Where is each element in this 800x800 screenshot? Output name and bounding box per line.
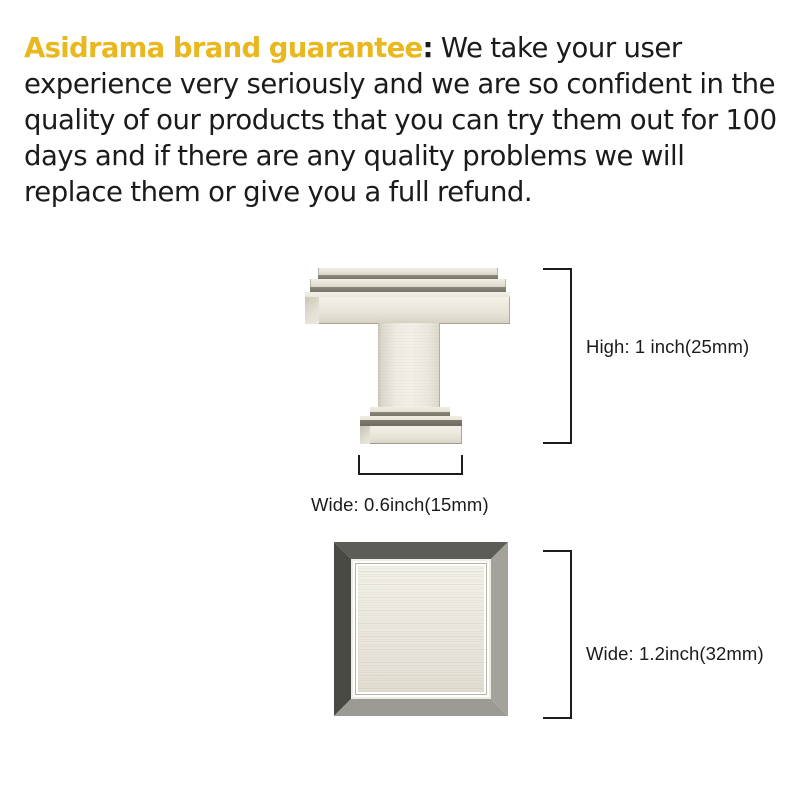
bracket-arm-top bbox=[543, 550, 572, 552]
face-width-dimension-label: Wide: 1.2inch(32mm) bbox=[586, 643, 764, 665]
bracket-arm-top bbox=[543, 268, 572, 270]
bracket-arm-bottom bbox=[543, 442, 572, 444]
bracket-stem bbox=[570, 550, 572, 719]
knob-stem-brushed-grain bbox=[378, 323, 440, 409]
knob-face-brushed-grain bbox=[358, 566, 484, 692]
stem-width-dimension-label: Wide: 0.6inch(15mm) bbox=[311, 494, 489, 516]
bracket-tick-left bbox=[358, 455, 360, 475]
height-dimension-bracket bbox=[543, 268, 572, 444]
knob-top-tier-2 bbox=[310, 279, 506, 287]
bracket-stem bbox=[570, 268, 572, 444]
knob-base-slab bbox=[360, 426, 462, 444]
brand-guarantee-colon: : bbox=[422, 32, 433, 64]
brand-guarantee-paragraph: Asidrama brand guarantee: We take your u… bbox=[24, 30, 780, 210]
product-spec-page: Asidrama brand guarantee: We take your u… bbox=[0, 0, 800, 800]
height-dimension-label: High: 1 inch(25mm) bbox=[586, 336, 749, 358]
face-width-dimension-bracket bbox=[543, 550, 572, 719]
bracket-base-line bbox=[358, 473, 463, 475]
bracket-tick-right bbox=[461, 455, 463, 475]
bracket-arm-bottom bbox=[543, 717, 572, 719]
knob-top-tier-1 bbox=[318, 268, 498, 275]
brand-guarantee-heading: Asidrama brand guarantee bbox=[24, 32, 422, 64]
knob-top-slab-chamfer bbox=[305, 297, 319, 324]
stem-width-dimension-bracket bbox=[358, 455, 463, 475]
knob-top-view-illustration bbox=[334, 542, 508, 716]
knob-base-slab-chamfer bbox=[360, 426, 370, 444]
knob-top-slab bbox=[305, 297, 510, 324]
